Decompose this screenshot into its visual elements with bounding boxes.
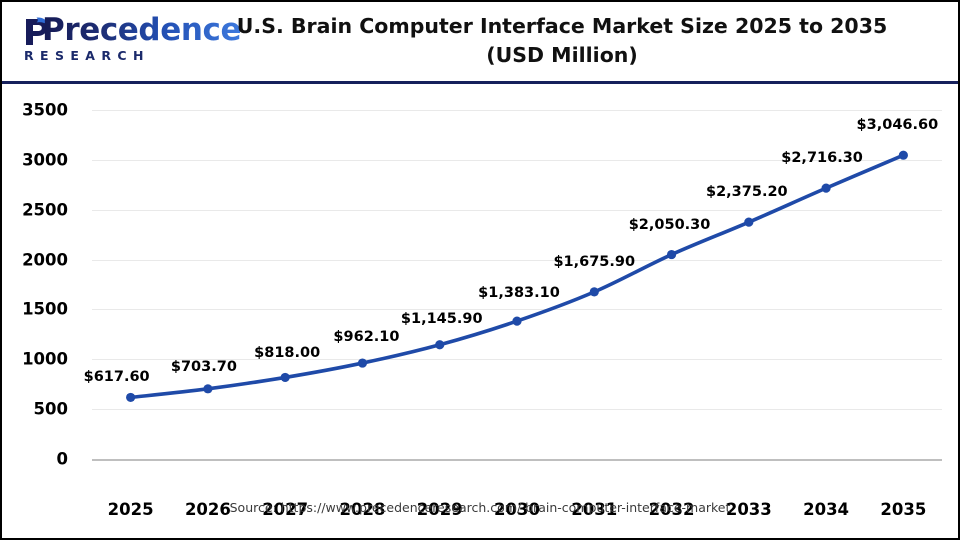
data-point-marker: [126, 393, 135, 402]
gridline: [92, 459, 942, 461]
data-point-marker: [667, 250, 676, 259]
data-point-marker: [590, 287, 599, 296]
data-point-label: $3,046.60: [857, 117, 939, 133]
y-axis-tick-label: 1000: [0, 350, 68, 369]
data-point-marker: [435, 340, 444, 349]
title-line-1: U.S. Brain Computer Interface Market Siz…: [237, 14, 887, 38]
data-point-marker: [899, 151, 908, 160]
data-point-label: $2,050.30: [629, 217, 711, 233]
y-axis-tick-label: 2000: [0, 250, 68, 269]
y-axis-tick-label: 0: [0, 450, 68, 469]
data-point-label: $1,675.90: [553, 254, 635, 270]
data-point-label: $617.60: [84, 369, 150, 385]
y-axis-tick-label: 1500: [0, 300, 68, 319]
y-axis-tick-label: 3500: [0, 101, 68, 120]
plot-area: 0500100015002000250030003500 20252026202…: [92, 110, 942, 459]
figure-header: Precedence RESEARCH U.S. Brain Computer …: [2, 2, 958, 84]
data-point-label: $2,716.30: [781, 150, 863, 166]
precedence-research-logo: Precedence RESEARCH: [12, 10, 172, 68]
data-point-marker: [821, 184, 830, 193]
y-axis-tick-label: 2500: [0, 200, 68, 219]
data-point-marker: [358, 358, 367, 367]
chart-area: 0500100015002000250030003500 20252026202…: [2, 84, 958, 538]
data-point-marker: [203, 384, 212, 393]
data-point-label: $1,383.10: [478, 285, 560, 301]
title-line-2: (USD Million): [486, 43, 638, 67]
data-point-marker: [512, 316, 521, 325]
data-point-label: $703.70: [171, 359, 237, 375]
data-point-label: $1,145.90: [401, 311, 483, 327]
logo-subtitle: RESEARCH: [24, 48, 150, 63]
page-title: U.S. Brain Computer Interface Market Siz…: [182, 12, 942, 70]
chart-figure: Precedence RESEARCH U.S. Brain Computer …: [0, 0, 960, 540]
data-point-marker: [281, 373, 290, 382]
source-caption: Source: https://www.precedenceresearch.c…: [2, 500, 958, 515]
series-markers: [126, 151, 908, 402]
data-point-label: $818.00: [254, 345, 320, 361]
data-point-label: $962.10: [333, 329, 399, 345]
y-axis-tick-label: 3000: [0, 150, 68, 169]
y-axis-tick-label: 500: [0, 400, 68, 419]
data-point-marker: [744, 218, 753, 227]
data-point-label: $2,375.20: [706, 184, 788, 200]
